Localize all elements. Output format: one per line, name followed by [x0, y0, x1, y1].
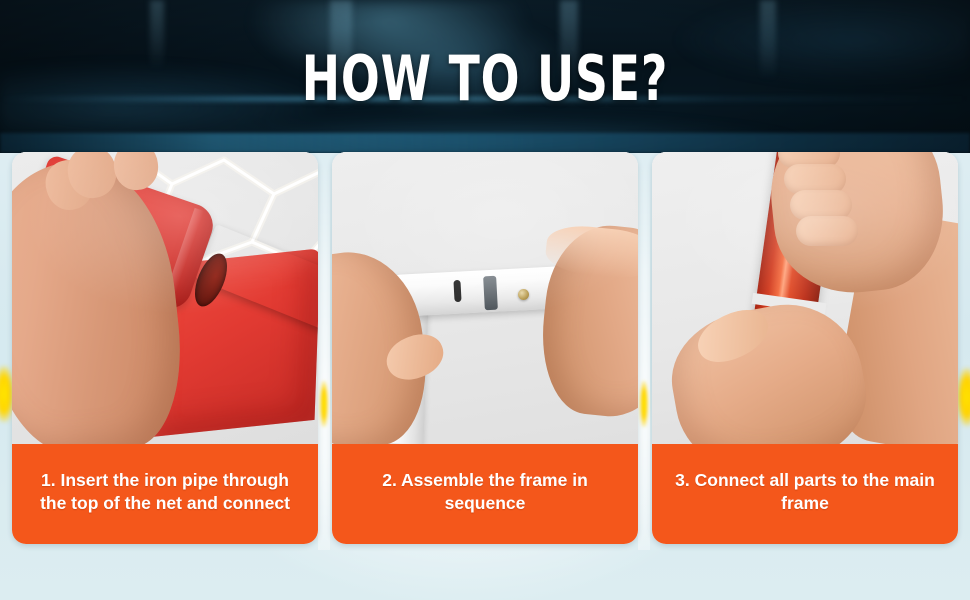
- step-caption-1: 1. Insert the iron pipe through the top …: [12, 444, 318, 544]
- card-gap-sheen-1: [318, 150, 330, 550]
- finger: [796, 216, 858, 246]
- pipe-screw: [518, 289, 529, 300]
- step-card-3: 3. Connect all parts to the main frame: [652, 152, 958, 544]
- top-hand-fingers: [778, 152, 866, 238]
- step-photo-2: [332, 152, 638, 444]
- background-yellow-accent-right: [957, 368, 970, 426]
- header-banner: HOW TO USE?: [0, 0, 970, 153]
- step-photo-1: [12, 152, 318, 444]
- step-card-1: 1. Insert the iron pipe through the top …: [12, 152, 318, 544]
- step-card-2: 2. Assemble the frame in sequence: [332, 152, 638, 544]
- pipe-slot: [453, 280, 461, 302]
- step-caption-3: 3. Connect all parts to the main frame: [652, 444, 958, 544]
- step-photo-3: [652, 152, 958, 444]
- card-gap-yellow-accent-1: [320, 381, 328, 427]
- pipe-collar: [483, 276, 498, 311]
- card-gap-yellow-accent-2: [640, 381, 648, 427]
- card-gap-sheen-2: [638, 150, 650, 550]
- page-title: HOW TO USE?: [87, 46, 882, 112]
- step-caption-2: 2. Assemble the frame in sequence: [332, 444, 638, 544]
- how-to-use-infographic: HOW TO USE? 1. Ins: [0, 0, 970, 600]
